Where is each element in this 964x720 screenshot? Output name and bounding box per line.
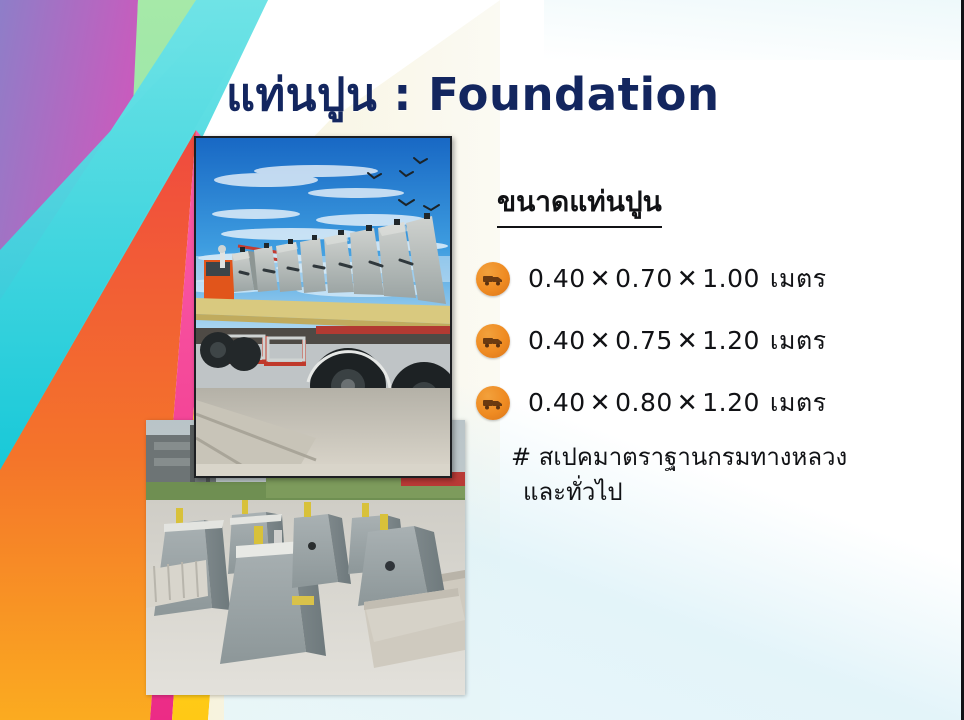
spec-sep2: ✕: [673, 388, 702, 417]
spec-dim2: 0.80: [615, 388, 673, 417]
spec-dim3: 1.20: [702, 326, 760, 355]
spec-sep1: ✕: [586, 326, 615, 355]
standard-note-line1: # สเปคมาตราฐานกรมทางหลวง: [511, 443, 847, 471]
spec-sep1: ✕: [586, 388, 615, 417]
spec-dim2: 0.70: [615, 264, 673, 293]
spec-dim2: 0.75: [615, 326, 673, 355]
spec-dim3: 1.00: [702, 264, 760, 293]
spec-dim1: 0.40: [528, 326, 586, 355]
page-title-english: Foundation: [428, 68, 719, 121]
spec-unit: เมตร: [770, 326, 827, 355]
spec-unit: เมตร: [770, 388, 827, 417]
page-title: แท่นปูน : Foundation: [226, 58, 719, 130]
page-title-separator: :: [377, 68, 428, 121]
spec-text: 0.40✕0.75✕1.20เมตร: [528, 321, 827, 361]
spec-dim3: 1.20: [702, 388, 760, 417]
photo-truck-with-blocks: [194, 136, 452, 478]
truck-icon: [476, 262, 510, 296]
spec-sep2: ✕: [673, 264, 702, 293]
standard-note: # สเปคมาตราฐานกรมทางหลวง และทั่วไป: [511, 440, 847, 510]
spec-list: 0.40✕0.70✕1.00เมตร 0.40✕0.75✕1.20เมตร: [476, 248, 946, 434]
spec-row: 0.40✕0.80✕1.20เมตร: [476, 372, 946, 434]
truck-icon: [476, 386, 510, 420]
spec-text: 0.40✕0.80✕1.20เมตร: [528, 383, 827, 423]
standard-note-line2: และทั่วไป: [511, 475, 847, 510]
spec-dim1: 0.40: [528, 264, 586, 293]
spec-row: 0.40✕0.70✕1.00เมตร: [476, 248, 946, 310]
spec-sep1: ✕: [586, 264, 615, 293]
specs-subheading: ขนาดแท่นปูน: [497, 180, 662, 228]
spec-dim1: 0.40: [528, 388, 586, 417]
page-title-thai: แท่นปูน: [226, 68, 377, 121]
spec-text: 0.40✕0.70✕1.00เมตร: [528, 259, 827, 299]
spec-sep2: ✕: [673, 326, 702, 355]
slide-canvas: แท่นปูน : Foundation: [0, 0, 964, 720]
spec-row: 0.40✕0.75✕1.20เมตร: [476, 310, 946, 372]
spec-unit: เมตร: [770, 264, 827, 293]
truck-icon: [476, 324, 510, 358]
background-top-wash: [544, 0, 964, 60]
